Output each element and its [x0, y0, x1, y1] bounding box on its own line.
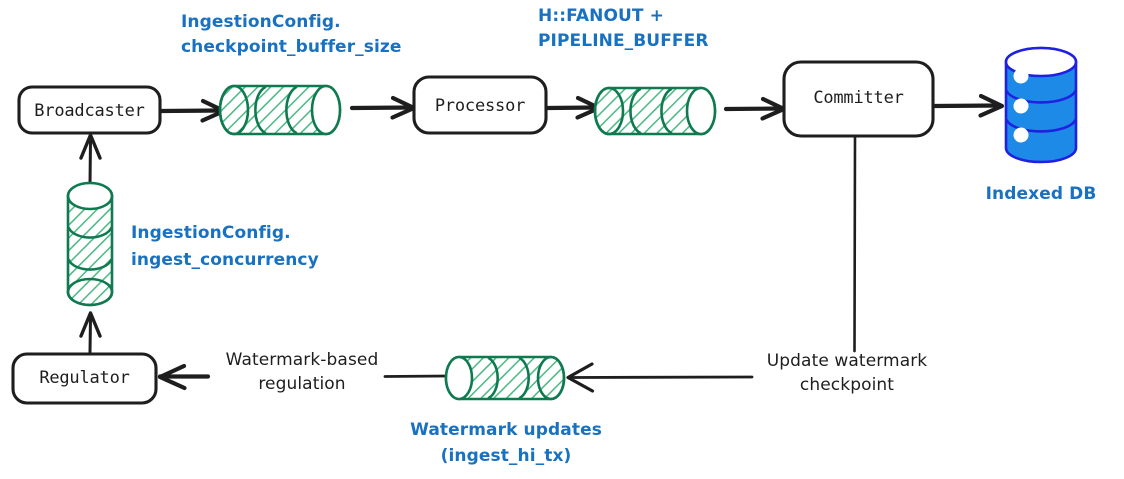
buffer-pipeline-buffer[interactable] — [595, 88, 715, 134]
node-indexed-db-cylinder[interactable] — [1006, 48, 1076, 162]
edge-regulator-to-concurrency-buffer — [81, 313, 100, 352]
db-indicator-dot — [1014, 99, 1029, 114]
buffer-checkpoint-buffer[interactable] — [220, 86, 340, 134]
label-checkpoint-buffer-size-line2: checkpoint_buffer_size — [181, 37, 402, 59]
edge-processor-to-pipeline-buffer — [548, 98, 599, 118]
edge-label-update-watermark-line1: Update watermark — [754, 351, 940, 373]
edge-label-update-watermark-line2: checkpoint — [754, 375, 940, 397]
edge-update-watermark-to-buffer — [568, 364, 752, 391]
node-label-broadcaster: Broadcaster — [19, 101, 160, 121]
edge-committer-to-indexed-db — [934, 96, 1002, 116]
db-indicator-dot — [1014, 128, 1029, 143]
label-fanout-line2: PIPELINE_BUFFER — [538, 31, 709, 53]
edge-concurrency-buffer-to-broadcaster — [81, 135, 100, 184]
buffer-concurrency-buffer[interactable] — [68, 183, 112, 305]
node-label-committer: Committer — [784, 88, 933, 108]
label-indexed-db: Indexed DB — [981, 184, 1101, 206]
edge-label-watermark-regulation-line2: regulation — [214, 374, 390, 396]
node-label-processor: Processor — [414, 96, 546, 116]
node-label-regulator: Regulator — [13, 368, 156, 388]
label-watermark-updates-line1: Watermark updates — [396, 420, 616, 442]
label-checkpoint-buffer-size-line1: IngestionConfig. — [181, 12, 341, 34]
buffer-watermark-buffer[interactable] — [446, 357, 564, 399]
label-watermark-updates-line2: (ingest_hi_tx) — [396, 446, 616, 468]
edge-committer-down — [855, 137, 856, 351]
edge-checkpoint-buffer-to-processor — [352, 98, 414, 118]
label-ingest-concurrency-line2: ingest_concurrency — [131, 250, 319, 272]
label-fanout-line1: H::FANOUT + — [538, 6, 664, 28]
db-indicator-dot — [1014, 69, 1029, 84]
edge-label-watermark-regulation-line1: Watermark-based — [214, 350, 390, 372]
edge-broadcaster-to-checkpoint-buffer — [161, 101, 224, 121]
diagram-canvas: Broadcaster Processor Committer Regulato… — [0, 0, 1124, 479]
edge-pipeline-buffer-to-committer — [726, 99, 784, 119]
label-ingest-concurrency-line1: IngestionConfig. — [131, 223, 291, 245]
